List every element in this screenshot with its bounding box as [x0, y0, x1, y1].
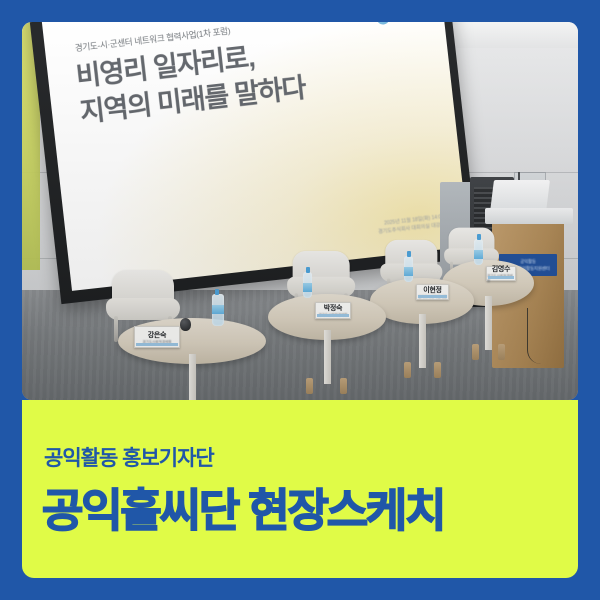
name-tag-bar: [418, 295, 447, 298]
water-bottle: [303, 272, 312, 298]
table-foot: [340, 378, 347, 394]
table-foot: [306, 378, 313, 394]
name-tag-bar: [136, 343, 178, 346]
name-tag: 박정숙 경기도사회적경제원: [315, 302, 351, 319]
name-tag: 이현정 경기도사회적경제원: [416, 284, 449, 300]
handheld-microphone: [180, 318, 191, 331]
name-tag: 강은숙 경기도사회적경제원: [134, 326, 180, 348]
lectern-top: [485, 208, 573, 224]
table-post: [419, 314, 426, 368]
name-tag-name: 박정숙: [324, 303, 342, 313]
table-foot: [498, 344, 505, 360]
caption-subtitle: 공익활동 홍보기자단: [44, 442, 214, 472]
water-bottle: [212, 294, 224, 326]
bottle-label: [303, 283, 312, 292]
promo-card: 경기도-시·군센터 네트워크 협력사업(1차 포럼) 비영리 일자리로, 지역의…: [0, 0, 600, 600]
name-tag-bar: [488, 276, 514, 279]
table-foot: [404, 362, 411, 378]
table-post: [485, 296, 492, 350]
name-tag-name: 이현정: [423, 285, 441, 295]
caption-panel: 공익활동 홍보기자단 공익홀씨단 현장스케치: [22, 400, 578, 578]
event-photo: 경기도-시·군센터 네트워크 협력사업(1차 포럼) 비영리 일자리로, 지역의…: [22, 22, 578, 400]
bottle-label: [404, 267, 413, 276]
slide-footer: 2025년 11월 18일(화) 14:00 경기도주식회사 대회의실 대강당: [377, 213, 446, 237]
table-post: [324, 330, 331, 384]
name-tag-name: 강은숙: [148, 330, 166, 340]
name-tag-name: 김영수: [492, 264, 510, 274]
table-post: [189, 354, 196, 400]
water-bottle: [474, 239, 483, 265]
logo-mark-icon: [376, 22, 390, 25]
table-foot: [434, 362, 441, 378]
bottle-label: [474, 250, 483, 259]
bottle-label: [212, 305, 224, 314]
name-tag-bar: [317, 314, 349, 317]
slide-logo: 경기도주식회사: [376, 22, 424, 25]
caption-title: 공익홀씨단 현장스케치: [42, 474, 444, 539]
name-tag: 김영수 경기도사회적경제원: [486, 266, 516, 281]
water-bottle: [404, 256, 413, 282]
